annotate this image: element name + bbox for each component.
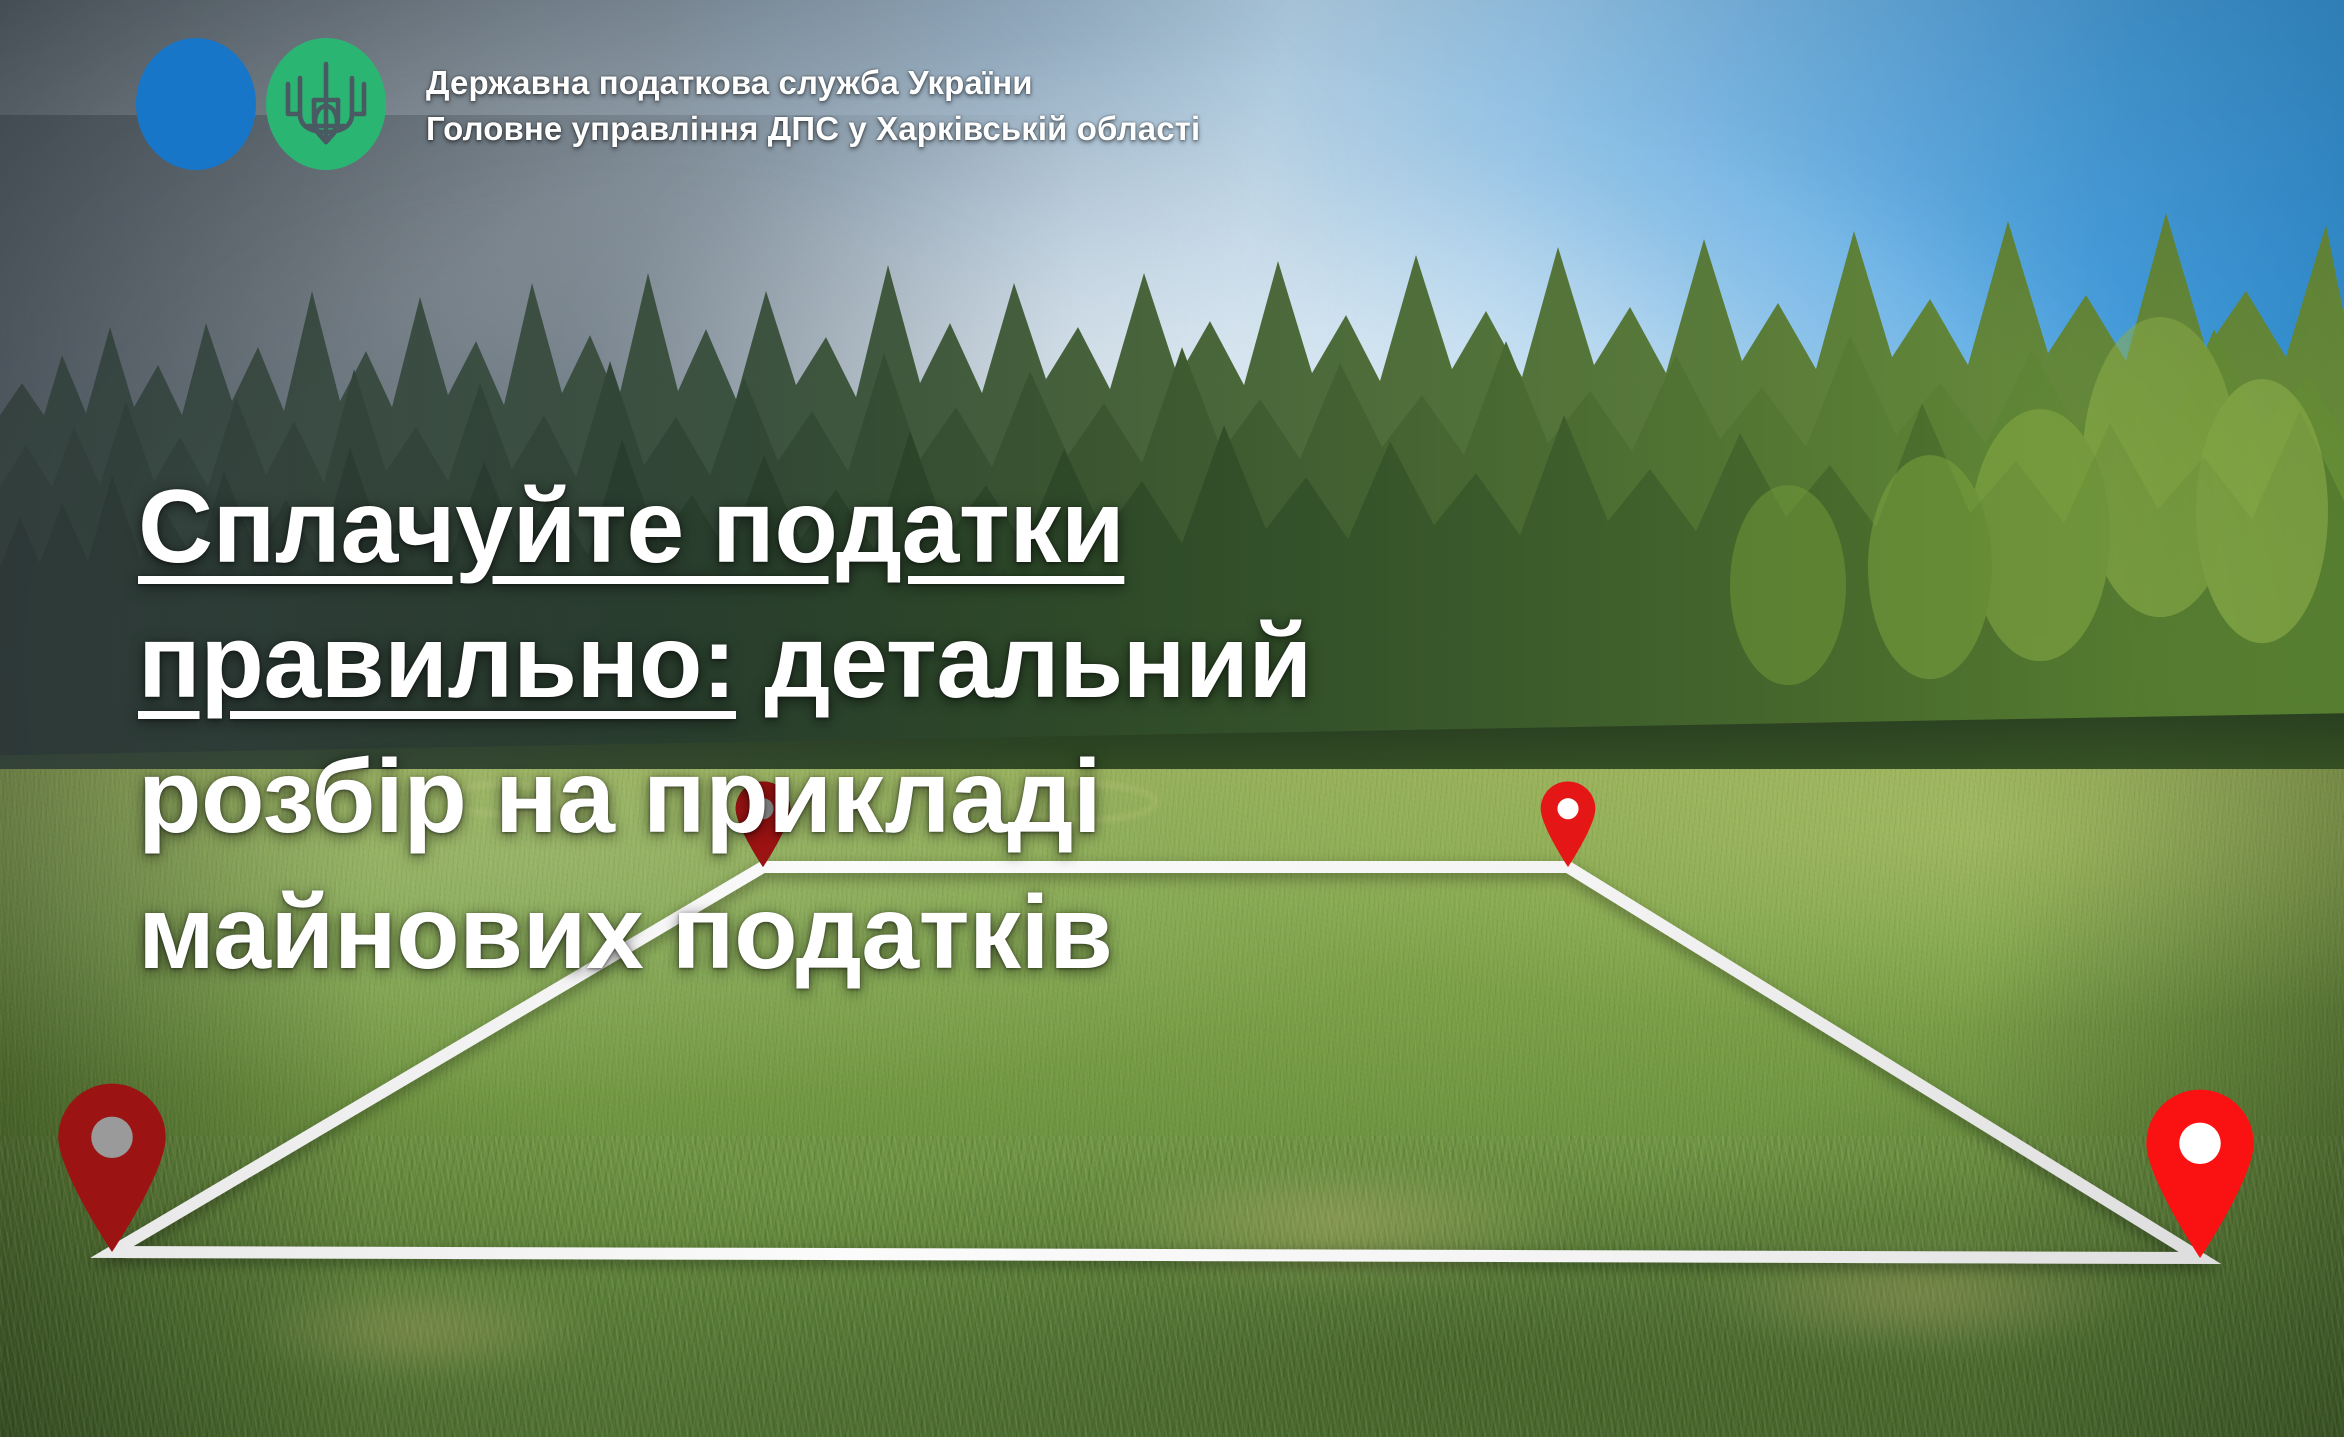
headline-line-2-plain: детальний xyxy=(736,604,1312,720)
headline-line-2-underlined: правильно: xyxy=(138,604,736,720)
headline-line-1: Сплачуйте податки xyxy=(138,460,1558,595)
headline-line-4: майнових податків xyxy=(138,866,1558,1001)
org-name-block: Державна податкова служба України Головн… xyxy=(426,59,1200,150)
dps-logo[interactable] xyxy=(130,38,400,170)
poster-canvas: Державна податкова служба України Головн… xyxy=(0,0,2344,1437)
org-name-line-2: Головне управління ДПС у Харківській обл… xyxy=(426,109,1200,149)
brand-header: Державна податкова служба України Головн… xyxy=(130,38,1200,170)
headline-block: Сплачуйте податки правильно: детальний р… xyxy=(138,460,1558,1001)
blue-circle-icon xyxy=(136,38,256,170)
headline-line-2: правильно: детальний xyxy=(138,595,1558,730)
org-name-line-1: Державна податкова служба України xyxy=(426,63,1200,103)
headline-line-3: розбір на прикладі xyxy=(138,730,1558,865)
headline-line-1-text: Сплачуйте податки xyxy=(138,469,1124,585)
